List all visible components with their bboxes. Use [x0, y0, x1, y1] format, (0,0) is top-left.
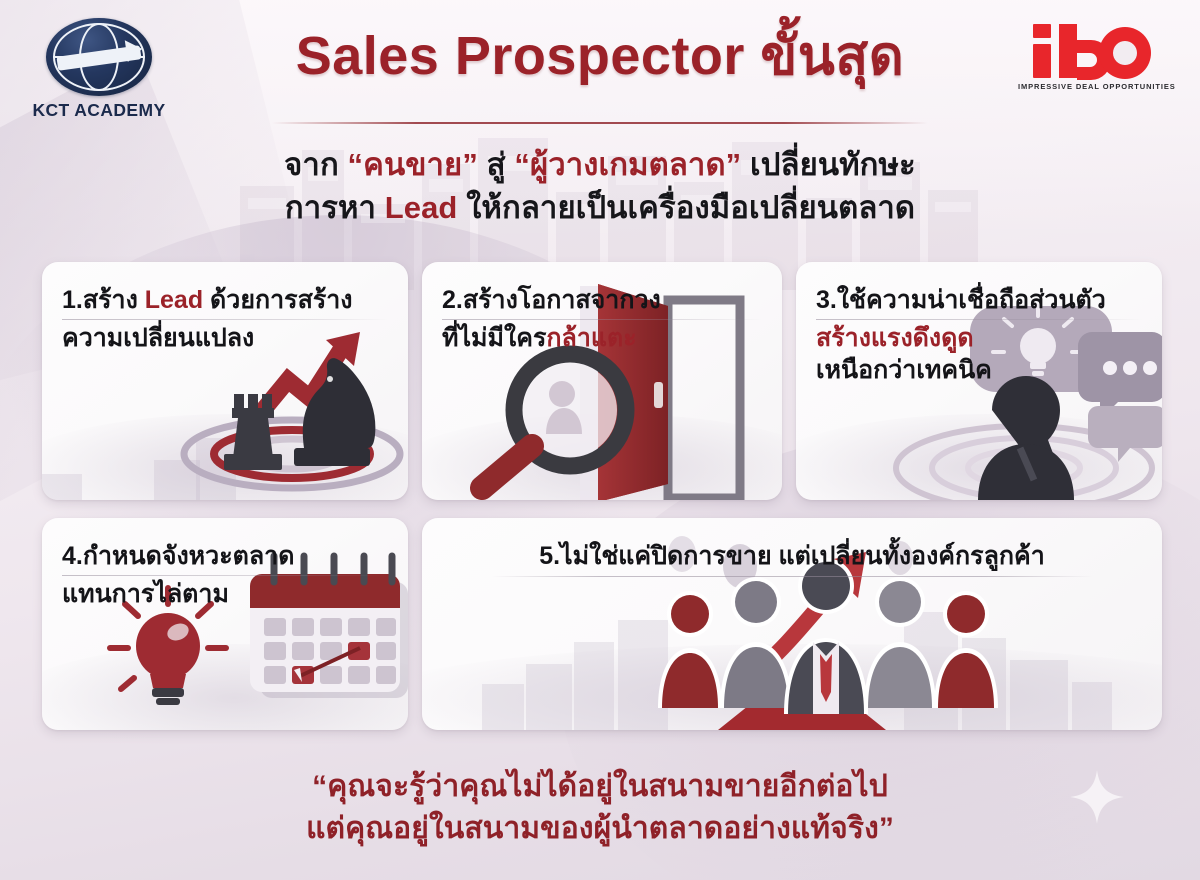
quote-line-1: “คุณจะรู้ว่าคุณไม่ได้อยู่ในสนามขายอีกต่อ… — [0, 766, 1200, 808]
subtitle-highlight-salesperson: “คนขาย” — [348, 147, 478, 182]
subtitle-text: ให้กลายเป็นเครื่องมือเปลี่ยนตลาด — [457, 190, 915, 225]
card-1-heading: 1.สร้าง Lead ด้วยการสร้าง ความเปลี่ยนแปล… — [42, 262, 408, 354]
card-2-line-2: ที่ไม่มีใครกล้าแตะ — [442, 322, 762, 355]
card-4-line-2: แทนการไล่ตาม — [62, 578, 388, 611]
card-1-line-1: 1.สร้าง Lead ด้วยการสร้าง — [62, 284, 388, 317]
closing-quote: “คุณจะรู้ว่าคุณไม่ได้อยู่ในสนามขายอีกต่อ… — [0, 766, 1200, 850]
title-divider — [272, 122, 928, 124]
card-2-line-1: 2.สร้างโอกาสจากวง — [442, 284, 762, 317]
subtitle-line-2: การหา Lead ให้กลายเป็นเครื่องมือเปลี่ยนต… — [0, 187, 1200, 230]
card-5-divider — [491, 576, 1093, 577]
card-4-set-market-timing[interactable]: 4.กำหนดจังหวะตลาด แทนการไล่ตาม — [42, 518, 408, 730]
subtitle-line-1: จาก “คนขาย” สู่ “ผู้วางเกมตลาด” เปลี่ยนท… — [0, 144, 1200, 187]
card-2-highlight-dare: กล้าแตะ — [546, 324, 636, 352]
card-2-divider — [442, 319, 762, 320]
subtitle-text: การหา — [285, 190, 385, 225]
card-4-line-1: 4.กำหนดจังหวะตลาด — [62, 540, 388, 573]
quote-line-2: แต่คุณอยู่ในสนามของผู้นำตลาดอย่างแท้จริง… — [0, 808, 1200, 850]
card-1-line-2: ความเปลี่ยนแปลง — [62, 322, 388, 355]
ido-logo: IMPRESSIVE DEAL OPPORTUNITIES — [1018, 22, 1168, 91]
ido-tagline: IMPRESSIVE DEAL OPPORTUNITIES — [1018, 82, 1168, 91]
card-5-line-1: 5.ไม่ใช่แค่ปิดการขาย แต่เปลี่ยนทั้งองค์ก… — [442, 540, 1142, 573]
subtitle: จาก “คนขาย” สู่ “ผู้วางเกมตลาด” เปลี่ยนท… — [0, 144, 1200, 230]
card-3-line-2: สร้างแรงดึงดูด — [816, 322, 1142, 355]
header: KCT ACADEMY Sales Prospector ขั้นสุด IMP… — [0, 0, 1200, 132]
subtitle-highlight-market-strategist: “ผู้วางเกมตลาด” — [514, 147, 741, 182]
card-5-transform-customer-org[interactable]: 5.ไม่ใช่แค่ปิดการขาย แต่เปลี่ยนทั้งองค์ก… — [422, 518, 1162, 730]
subtitle-text: จาก — [284, 147, 347, 182]
card-5-heading: 5.ไม่ใช่แค่ปิดการขาย แต่เปลี่ยนทั้งองค์ก… — [422, 518, 1162, 577]
card-1-highlight-lead: Lead — [145, 286, 203, 314]
infographic-canvas: KCT ACADEMY Sales Prospector ขั้นสุด IMP… — [0, 0, 1200, 880]
card-1-divider — [62, 319, 388, 320]
card-3-heading: 3.ใช้ความน่าเชื่อถือส่วนตัว สร้างแรงดึงด… — [796, 262, 1162, 387]
card-2-text: ที่ไม่มีใคร — [442, 324, 546, 352]
subtitle-text: สู่ — [478, 147, 514, 182]
card-4-heading: 4.กำหนดจังหวะตลาด แทนการไล่ตาม — [42, 518, 408, 610]
ido-wordmark-icon — [1029, 22, 1157, 80]
kct-academy-label: KCT ACADEMY — [24, 100, 174, 121]
card-3-divider — [816, 319, 1142, 320]
card-3-line-3: เหนือกว่าเทคนิค — [816, 354, 1142, 387]
subtitle-text: เปลี่ยนทักษะ — [741, 147, 916, 182]
card-1-text: ด้วยการสร้าง — [203, 286, 352, 314]
card-2-heading: 2.สร้างโอกาสจากวง ที่ไม่มีใครกล้าแตะ — [422, 262, 782, 354]
card-3-line-1: 3.ใช้ความน่าเชื่อถือส่วนตัว — [816, 284, 1142, 317]
subtitle-highlight-lead: Lead — [385, 190, 458, 225]
card-2-untapped-opportunity[interactable]: 2.สร้างโอกาสจากวง ที่ไม่มีใครกล้าแตะ — [422, 262, 782, 500]
card-3-personal-credibility[interactable]: 3.ใช้ความน่าเชื่อถือส่วนตัว สร้างแรงดึงด… — [796, 262, 1162, 500]
card-1-create-lead[interactable]: 1.สร้าง Lead ด้วยการสร้าง ความเปลี่ยนแปล… — [42, 262, 408, 500]
card-1-text: 1.สร้าง — [62, 286, 145, 314]
card-4-divider — [62, 575, 388, 576]
